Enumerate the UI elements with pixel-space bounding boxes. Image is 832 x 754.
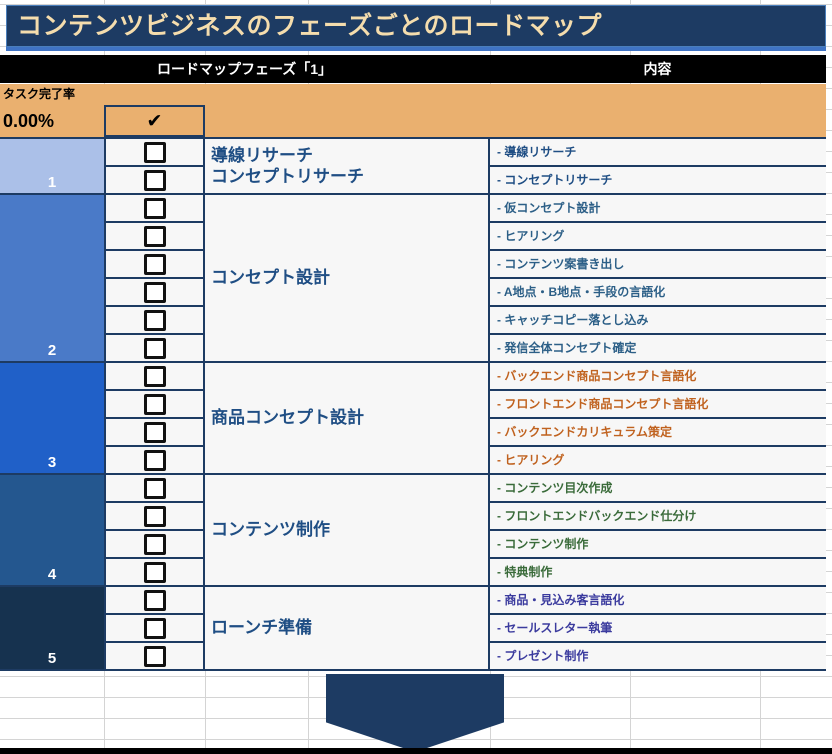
task-item-cell: - A地点・B地点・手段の言語化 [490,279,826,307]
task-item-cell: - バックエンド商品コンセプト言語化 [490,363,826,391]
task-checkbox-cell[interactable] [104,559,205,587]
task-checkbox-cell[interactable] [104,531,205,559]
task-item-cell: - 仮コンセプト設計 [490,195,826,223]
phase-title-label: ローンチ準備 [205,617,312,638]
phase-number-label: 5 [0,651,104,668]
checkbox-icon[interactable] [144,282,166,303]
task-checkbox-cell[interactable] [104,643,205,671]
checkbox-icon[interactable] [144,254,166,275]
task-item-label: - ヒアリング [490,454,564,466]
roadmap-table: 1導線リサーチ コンセプトリサーチ- 導線リサーチ- コンセプトリサーチ2コンセ… [0,137,826,668]
task-item-label: - 導線リサーチ [490,146,576,158]
checkbox-icon[interactable] [144,562,166,583]
task-checkbox-cell[interactable] [104,363,205,391]
phase-title-label: 導線リサーチ コンセプトリサーチ [205,145,364,188]
summary-blank-cell [205,84,826,137]
column-header-phase: ロードマップフェーズ「1」 [0,55,489,83]
phase-title-cell: 導線リサーチ コンセプトリサーチ [205,139,490,195]
task-item-cell: - セールスレター執筆 [490,615,826,643]
checkbox-icon[interactable] [144,226,166,247]
checkbox-icon[interactable] [144,394,166,415]
task-item-label: - 仮コンセプト設計 [490,202,600,214]
task-checkbox-cell[interactable] [104,391,205,419]
checkbox-icon[interactable] [144,142,166,163]
checkbox-icon[interactable] [144,422,166,443]
phase-number-cell: 5 [0,587,104,671]
phase-title-label: コンセプト設計 [205,267,330,288]
task-checkbox-cell[interactable] [104,279,205,307]
task-item-label: - コンテンツ案書き出し [490,258,624,270]
task-checkbox-cell[interactable] [104,587,205,615]
task-item-label: - セールスレター執筆 [490,622,612,634]
checkbox-icon[interactable] [144,534,166,555]
spreadsheet-canvas: コンテンツビジネスのフェーズごとのロードマップ ロードマップフェーズ「1」 内容… [0,0,832,754]
task-item-label: - フロントエンドバックエンド仕分け [490,510,696,522]
task-checkbox-cell[interactable] [104,251,205,279]
checkmark-icon: ✔ [147,112,163,131]
task-checkbox-cell[interactable] [104,139,205,167]
task-item-cell: - プレゼント制作 [490,643,826,671]
task-checkbox-cell[interactable] [104,195,205,223]
page-title: コンテンツビジネスのフェーズごとのロードマップ [6,5,826,47]
task-item-label: - キャッチコピー落とし込み [490,314,648,326]
task-item-cell: - フロントエンド商品コンセプト言語化 [490,391,826,419]
task-checkbox-cell[interactable] [104,223,205,251]
checkbox-icon[interactable] [144,506,166,527]
phase-number-label: 2 [0,343,104,360]
task-rate-value-cell: 0.00% [0,105,104,137]
table-header-band: ロードマップフェーズ「1」 内容 [0,55,826,83]
check-all-cell[interactable]: ✔ [104,105,205,137]
phase-number-label: 3 [0,455,104,472]
checkbox-icon[interactable] [144,366,166,387]
task-checkbox-cell[interactable] [104,475,205,503]
task-item-cell: - コンテンツ案書き出し [490,251,826,279]
checkbox-icon[interactable] [144,618,166,639]
task-item-label: - A地点・B地点・手段の言語化 [490,286,665,298]
task-checkbox-cell[interactable] [104,447,205,475]
phase-title-cell: コンセプト設計 [205,195,490,363]
task-item-cell: - フロントエンドバックエンド仕分け [490,503,826,531]
task-item-label: - プレゼント制作 [490,650,588,662]
task-item-cell: - ヒアリング [490,447,826,475]
task-rate-label-cell: タスク完了率 [0,84,104,105]
task-rate-value: 0.00% [0,105,104,137]
checkbox-icon[interactable] [144,198,166,219]
task-item-label: - バックエンドカリキュラム策定 [490,426,672,438]
task-item-label: - コンセプトリサーチ [490,174,612,186]
task-checkbox-cell[interactable] [104,167,205,195]
task-item-cell: - キャッチコピー落とし込み [490,307,826,335]
phase-number-cell: 2 [0,195,104,363]
phase-number-cell: 3 [0,363,104,475]
task-item-cell: - ヒアリング [490,223,826,251]
phase-title-label: コンテンツ制作 [205,519,330,540]
task-item-label: - ヒアリング [490,230,564,242]
task-item-label: - バックエンド商品コンセプト言語化 [490,370,696,382]
phase-number-cell: 1 [0,139,104,195]
task-checkbox-cell[interactable] [104,419,205,447]
column-header-content: 内容 [489,55,826,83]
task-item-label: - コンテンツ制作 [490,538,588,550]
title-underline [6,47,826,51]
task-item-label: - 商品・見込み客言語化 [490,594,624,606]
phase-number-cell: 4 [0,475,104,587]
task-checkbox-cell[interactable] [104,503,205,531]
task-rate-label: タスク完了率 [0,84,104,105]
task-item-cell: - コンセプトリサーチ [490,167,826,195]
task-item-cell: - コンテンツ目次作成 [490,475,826,503]
bottom-black-bar [0,748,832,754]
check-column-spacer [104,84,205,105]
phase-title-cell: 商品コンセプト設計 [205,363,490,475]
phase-number-label: 1 [0,175,104,192]
task-item-cell: - コンテンツ制作 [490,531,826,559]
task-item-cell: - バックエンドカリキュラム策定 [490,419,826,447]
task-checkbox-cell[interactable] [104,615,205,643]
phase-number-label: 4 [0,567,104,584]
task-checkbox-cell[interactable] [104,335,205,363]
task-item-cell: - 発信全体コンセプト確定 [490,335,826,363]
checkbox-icon[interactable] [144,170,166,191]
checkbox-icon[interactable] [144,450,166,471]
phase-title-cell: ローンチ準備 [205,587,490,671]
checkbox-icon[interactable] [144,590,166,611]
task-item-label: - コンテンツ目次作成 [490,482,612,494]
task-item-label: - フロントエンド商品コンセプト言語化 [490,398,708,410]
checkbox-icon[interactable] [144,646,166,667]
task-item-cell: - 商品・見込み客言語化 [490,587,826,615]
checkbox-icon[interactable] [144,338,166,359]
task-item-cell: - 導線リサーチ [490,139,826,167]
page-title-text: コンテンツビジネスのフェーズごとのロードマップ [7,14,602,39]
task-item-label: - 発信全体コンセプト確定 [490,342,636,354]
phase-title-cell: コンテンツ制作 [205,475,490,587]
task-checkbox-cell[interactable] [104,307,205,335]
checkbox-icon[interactable] [144,310,166,331]
checkbox-icon[interactable] [144,478,166,499]
phase-title-label: 商品コンセプト設計 [205,407,364,428]
task-item-cell: - 特典制作 [490,559,826,587]
task-item-label: - 特典制作 [490,566,552,578]
